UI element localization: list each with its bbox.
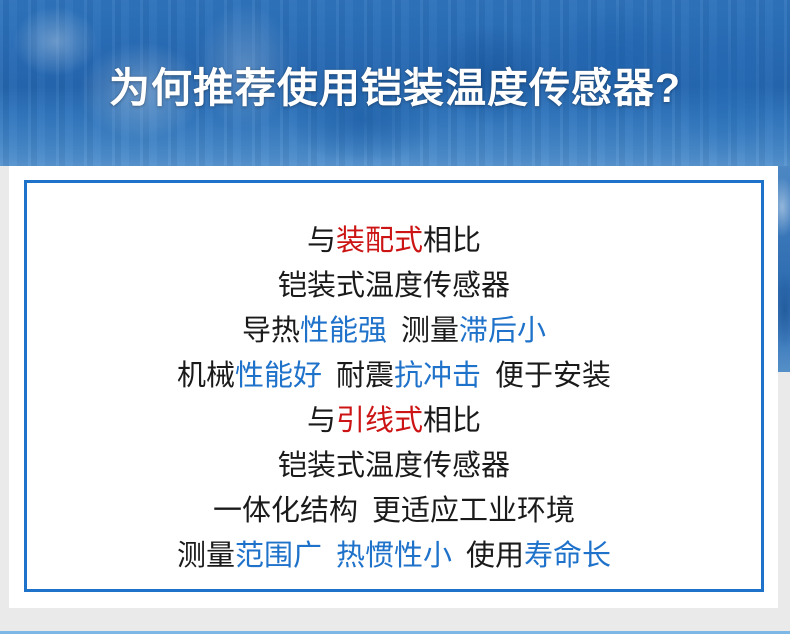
feature-line: 测量范围广热惯性小使用寿命长 <box>27 534 761 579</box>
feature-text-segment: 与 <box>307 225 336 257</box>
feature-text-segment: 范围广 <box>235 540 322 572</box>
feature-text-segment: 使用 <box>466 540 524 572</box>
feature-text-segment: 热惯性小 <box>336 540 452 572</box>
right-edge-photo-strip <box>777 166 790 372</box>
feature-text-segment: 寿命长 <box>524 540 611 572</box>
feature-text-segment: 滞后小 <box>459 315 546 347</box>
feature-text-segment: 性能强 <box>300 315 387 347</box>
blue-frame-border: 与装配式相比铠装式温度传感器导热性能强测量滞后小机械性能好耐震抗冲击便于安装与引… <box>24 180 764 592</box>
feature-text-segment: 便于安装 <box>495 360 611 392</box>
feature-text-segment: 耐震 <box>336 360 394 392</box>
feature-text-segment: 与 <box>307 405 336 437</box>
feature-text-segment: 更适应工业环境 <box>372 495 575 527</box>
feature-text-segment: 引线式 <box>336 405 423 437</box>
feature-text-segment: 铠装式温度传感器 <box>278 270 510 302</box>
feature-line: 铠装式温度传感器 <box>27 444 761 489</box>
feature-text-segment: 性能好 <box>235 360 322 392</box>
feature-text-segment: 装配式 <box>336 225 423 257</box>
feature-text-segment: 一体化结构 <box>213 495 358 527</box>
feature-text-segment: 机械 <box>177 360 235 392</box>
feature-line: 与装配式相比 <box>27 219 761 264</box>
feature-text-block: 与装配式相比铠装式温度传感器导热性能强测量滞后小机械性能好耐震抗冲击便于安装与引… <box>27 219 761 579</box>
feature-line: 铠装式温度传感器 <box>27 264 761 309</box>
feature-line: 机械性能好耐震抗冲击便于安装 <box>27 354 761 399</box>
feature-line: 一体化结构更适应工业环境 <box>27 489 761 534</box>
feature-line: 与引线式相比 <box>27 399 761 444</box>
feature-text-segment: 相比 <box>423 405 481 437</box>
feature-text-segment: 导热 <box>242 315 300 347</box>
feature-text-segment: 相比 <box>423 225 481 257</box>
feature-line: 导热性能强测量滞后小 <box>27 309 761 354</box>
feature-text-segment: 铠装式温度传感器 <box>278 450 510 482</box>
hero-banner: 为何推荐使用铠装温度传感器? <box>0 0 790 166</box>
feature-text-segment: 测量 <box>177 540 235 572</box>
product-detail-page: 为何推荐使用铠装温度传感器? 与装配式相比铠装式温度传感器导热性能强测量滞后小机… <box>0 0 790 634</box>
feature-text-segment: 抗冲击 <box>394 360 481 392</box>
page-title: 为何推荐使用铠装温度传感器? <box>0 66 790 111</box>
content-card: 与装配式相比铠装式温度传感器导热性能强测量滞后小机械性能好耐震抗冲击便于安装与引… <box>9 166 778 608</box>
feature-text-segment: 测量 <box>401 315 459 347</box>
